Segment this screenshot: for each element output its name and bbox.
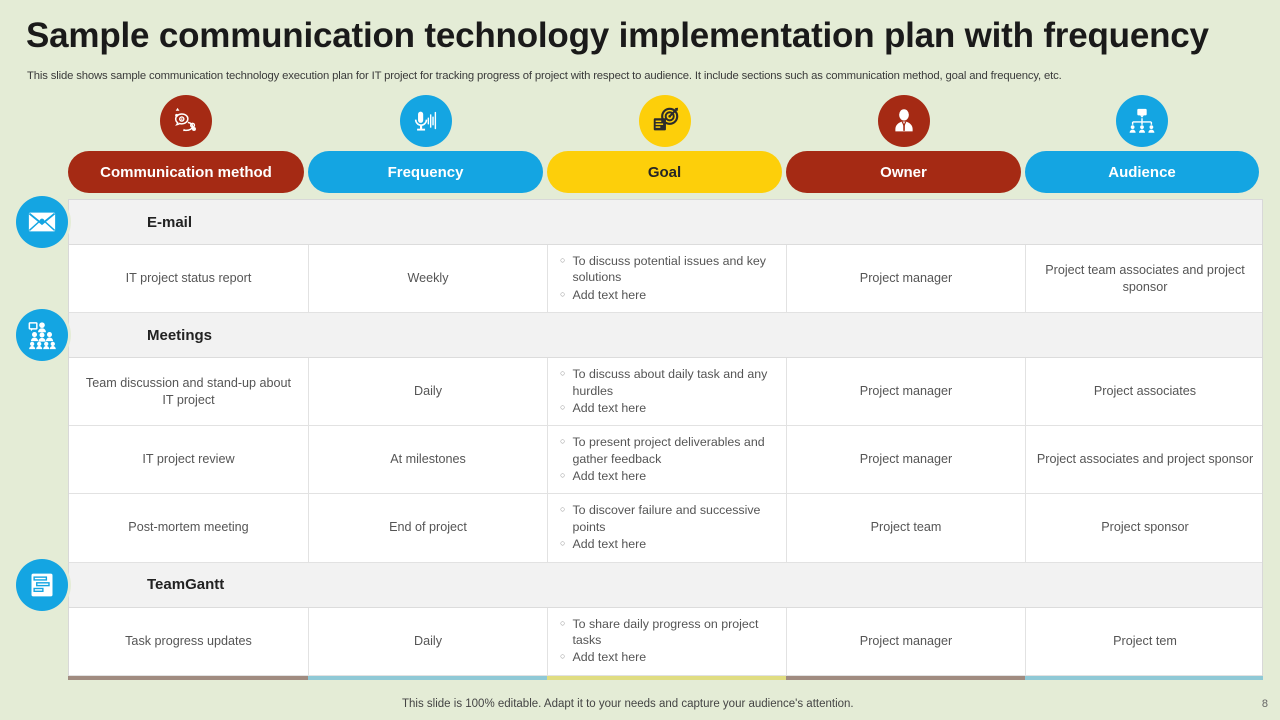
- column-header-label: Owner: [880, 164, 927, 181]
- cell-goal: ○To share daily progress on project task…: [548, 608, 787, 675]
- column-header-label: Goal: [648, 164, 681, 181]
- table-row: IT project status reportWeekly○To discus…: [69, 245, 1262, 313]
- goal-bullet-item: ○Add text here: [560, 536, 776, 552]
- goal-text: To discover failure and successive point…: [572, 502, 776, 535]
- goal-bullet-item: ○To share daily progress on project task…: [560, 616, 776, 649]
- cell-frequency: Weekly: [309, 245, 548, 312]
- communication-flow-icon: [160, 95, 212, 147]
- hollow-circle-bullet-icon: ○: [560, 468, 565, 484]
- cell-owner: Project team: [787, 494, 1026, 561]
- goal-bullet-item: ○To discuss potential issues and key sol…: [560, 253, 776, 286]
- goal-text: To discuss potential issues and key solu…: [572, 253, 776, 286]
- goal-text: To present project deliverables and gath…: [572, 434, 776, 467]
- column-header-pills: Communication method Frequency Goal: [68, 151, 1263, 193]
- section-icon-e-mail: [16, 196, 68, 248]
- hollow-circle-bullet-icon: ○: [560, 502, 565, 518]
- cell-communication-method: IT project status report: [69, 245, 309, 312]
- hollow-circle-bullet-icon: ○: [560, 649, 565, 665]
- page-title: Sample communication technology implemen…: [26, 16, 1209, 56]
- column-header-label: Communication method: [100, 164, 272, 181]
- hollow-circle-bullet-icon: ○: [560, 434, 565, 450]
- hollow-circle-bullet-icon: ○: [560, 287, 565, 303]
- table-row: Post-mortem meetingEnd of project○To dis…: [69, 494, 1262, 562]
- table-row: IT project reviewAt milestones○To presen…: [69, 426, 1262, 494]
- cell-frequency: Daily: [309, 608, 548, 675]
- section-title: E-mail: [69, 214, 192, 231]
- goal-text: Add text here: [572, 536, 646, 552]
- goal-text: Add text here: [572, 649, 646, 665]
- section-title: TeamGantt: [69, 576, 224, 593]
- column-header-pill-goal[interactable]: Goal: [547, 151, 782, 193]
- person-owner-icon: [878, 95, 930, 147]
- bottom-strip-segment: [786, 676, 1025, 680]
- cell-audience: Project tem: [1026, 608, 1264, 675]
- cell-owner: Project manager: [787, 608, 1026, 675]
- goal-bullet-item: ○Add text here: [560, 649, 776, 665]
- cell-communication-method: Team discussion and stand-up about IT pr…: [69, 358, 309, 425]
- cell-communication-method: Task progress updates: [69, 608, 309, 675]
- cell-owner: Project manager: [787, 245, 1026, 312]
- cell-frequency: End of project: [309, 494, 548, 561]
- cell-goal: ○To discover failure and successive poin…: [548, 494, 787, 561]
- cell-audience: Project associates: [1026, 358, 1264, 425]
- goal-text: Add text here: [572, 468, 646, 484]
- bottom-strip-segment: [547, 676, 786, 680]
- cell-frequency: At milestones: [309, 426, 548, 493]
- section-header-row: E-mail: [69, 200, 1262, 245]
- communication-plan-table: E-mailIT project status reportWeekly○To …: [68, 199, 1263, 676]
- goal-bullet-item: ○Add text here: [560, 287, 776, 303]
- goal-bullet-item: ○To present project deliverables and gat…: [560, 434, 776, 467]
- goal-text: To share daily progress on project tasks: [572, 616, 776, 649]
- hollow-circle-bullet-icon: ○: [560, 400, 565, 416]
- goal-bullet-item: ○To discuss about daily task and any hur…: [560, 366, 776, 399]
- audience-network-icon: [1116, 95, 1168, 147]
- goal-bullet-item: ○Add text here: [560, 468, 776, 484]
- goal-bullet-item: ○Add text here: [560, 400, 776, 416]
- section-icon-teamgantt: [16, 559, 68, 611]
- hollow-circle-bullet-icon: ○: [560, 616, 565, 632]
- cell-frequency: Daily: [309, 358, 548, 425]
- cell-goal: ○To discuss potential issues and key sol…: [548, 245, 787, 312]
- column-header-pill-audience[interactable]: Audience: [1025, 151, 1259, 193]
- table-row: Team discussion and stand-up about IT pr…: [69, 358, 1262, 426]
- cell-owner: Project manager: [787, 426, 1026, 493]
- goal-text: Add text here: [572, 287, 646, 303]
- cell-owner: Project manager: [787, 358, 1026, 425]
- column-header-pill-frequency[interactable]: Frequency: [308, 151, 543, 193]
- column-header-pill-owner[interactable]: Owner: [786, 151, 1021, 193]
- slide-root: Sample communication technology implemen…: [0, 0, 1280, 720]
- cell-audience: Project sponsor: [1026, 494, 1264, 561]
- bottom-strip-segment: [68, 676, 308, 680]
- cell-audience: Project team associates and project spon…: [1026, 245, 1264, 312]
- cell-goal: ○To discuss about daily task and any hur…: [548, 358, 787, 425]
- goal-text: Add text here: [572, 400, 646, 416]
- page-number: 8: [1262, 698, 1268, 710]
- section-icon-meetings: [16, 309, 68, 361]
- hollow-circle-bullet-icon: ○: [560, 253, 565, 269]
- microphone-waveform-icon: [400, 95, 452, 147]
- table-bottom-color-strip: [68, 676, 1263, 680]
- column-header-label: Audience: [1108, 164, 1176, 181]
- cell-goal: ○To present project deliverables and gat…: [548, 426, 787, 493]
- cell-communication-method: IT project review: [69, 426, 309, 493]
- goal-text: To discuss about daily task and any hurd…: [572, 366, 776, 399]
- section-header-row: Meetings: [69, 313, 1262, 358]
- cell-communication-method: Post-mortem meeting: [69, 494, 309, 561]
- footer-note: This slide is 100% editable. Adapt it to…: [402, 698, 854, 710]
- page-subtitle: This slide shows sample communication te…: [27, 70, 1062, 82]
- hollow-circle-bullet-icon: ○: [560, 366, 565, 382]
- hollow-circle-bullet-icon: ○: [560, 536, 565, 552]
- cell-audience: Project associates and project sponsor: [1026, 426, 1264, 493]
- column-header-pill-communication-method[interactable]: Communication method: [68, 151, 304, 193]
- section-header-row: TeamGantt: [69, 563, 1262, 608]
- section-title: Meetings: [69, 327, 212, 344]
- bottom-strip-segment: [1025, 676, 1263, 680]
- table-row: Task progress updatesDaily○To share dail…: [69, 608, 1262, 676]
- goal-bullet-item: ○To discover failure and successive poin…: [560, 502, 776, 535]
- column-header-label: Frequency: [388, 164, 464, 181]
- target-goal-icon: [639, 95, 691, 147]
- bottom-strip-segment: [308, 676, 547, 680]
